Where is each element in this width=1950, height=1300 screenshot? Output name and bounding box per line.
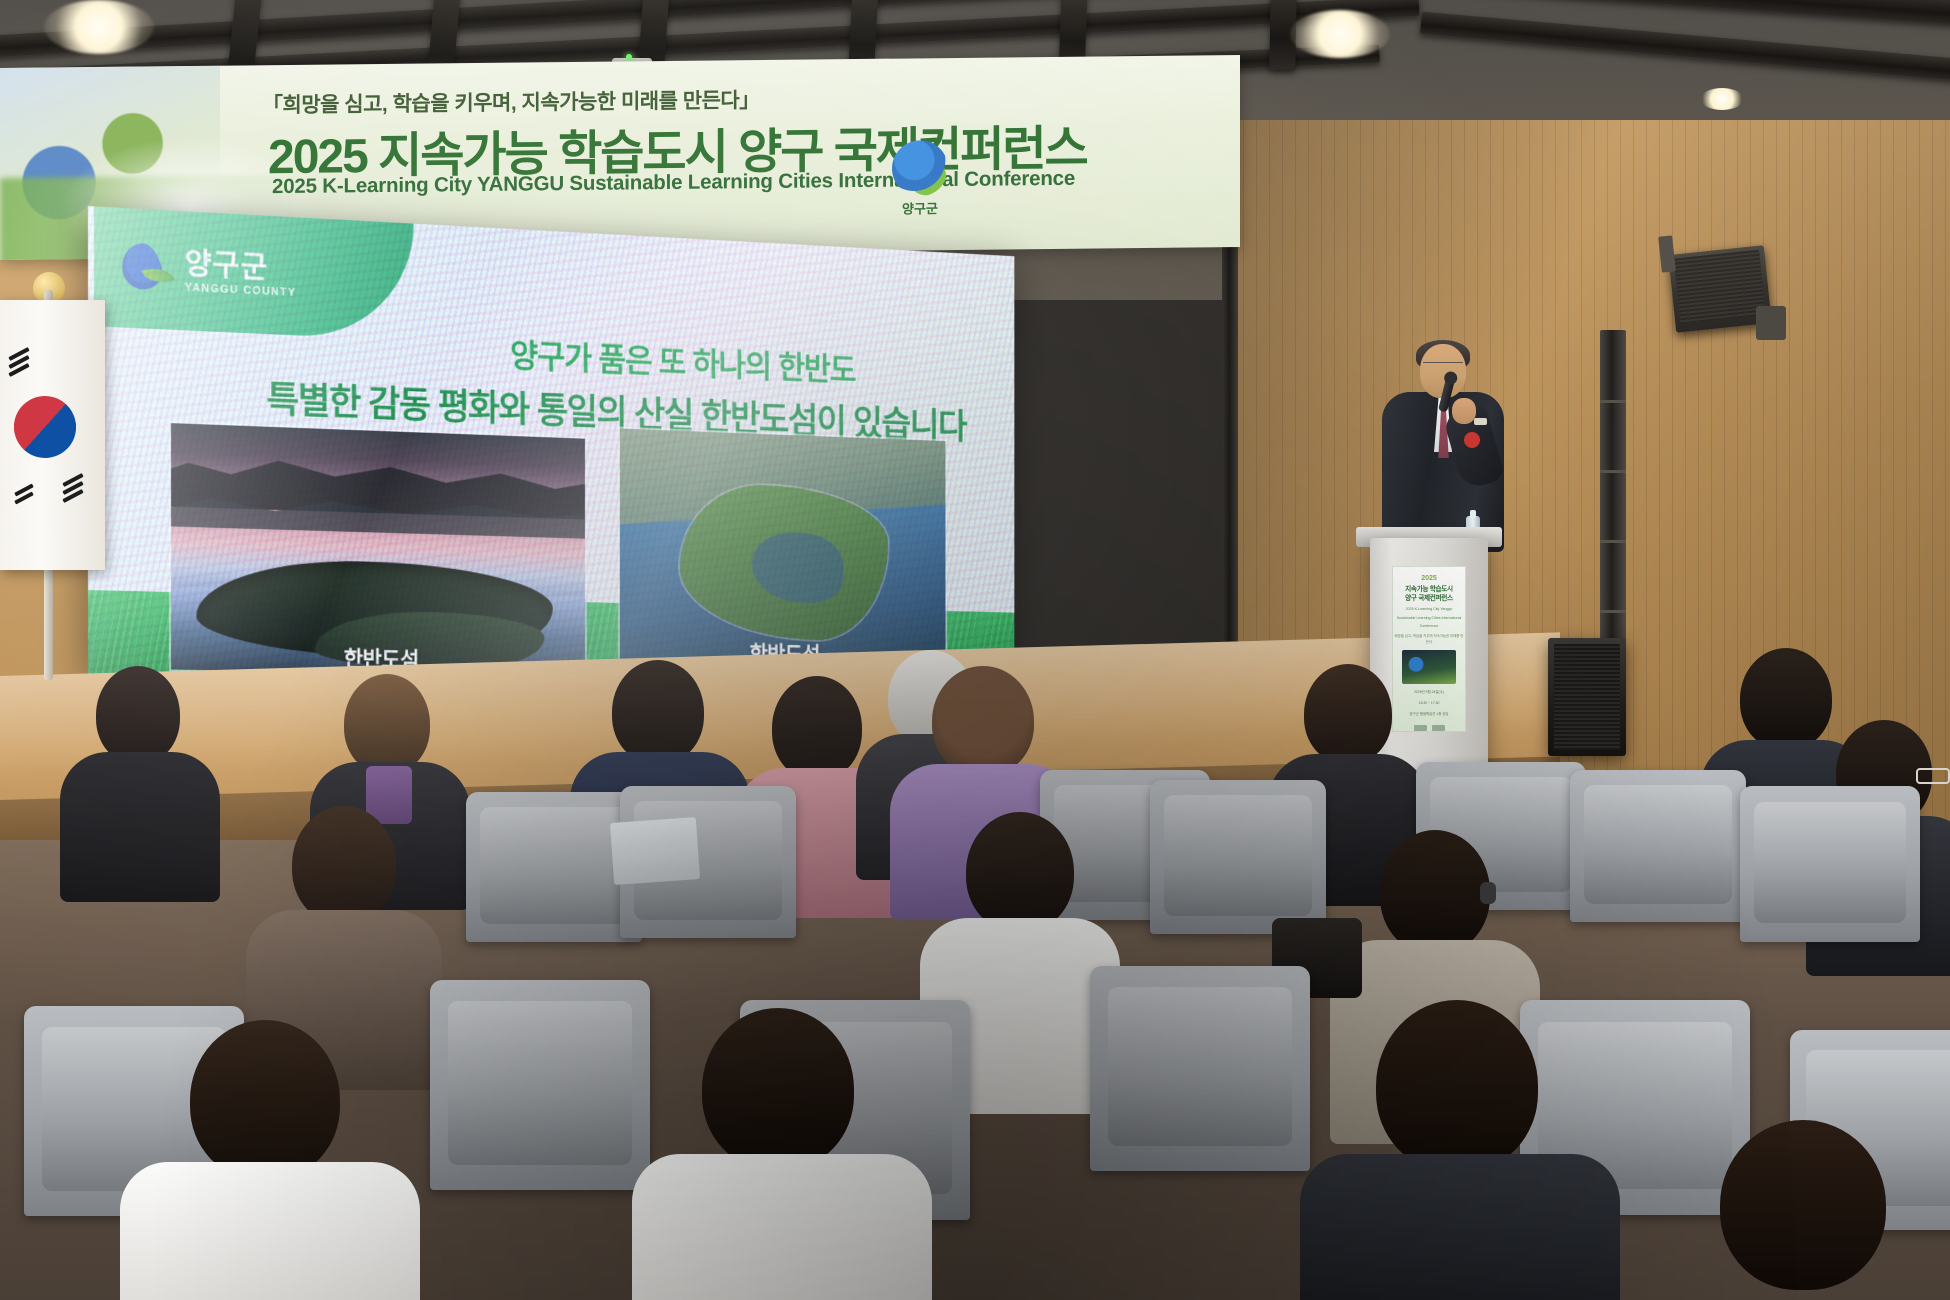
audience-head [344,674,430,774]
conference-chair[interactable] [1570,770,1746,922]
slide-brand-badge: 양구군 YANGGU COUNTY [94,206,414,340]
audience-member [1300,1000,1620,1300]
poster-subtitle-line1: 2025 K-Learning City Yanggu [1393,607,1465,612]
projector-indicator-icon [626,54,632,60]
speaker-wristwatch [1474,418,1487,425]
audience-member [632,1008,932,1300]
projection-screen: 양구군 YANGGU COUNTY 양구가 품은 또 하나의 한반도 특별한 감… [88,206,1014,692]
speaker-hand [1452,398,1476,424]
audience-head [190,1020,340,1180]
slide-brand-english: YANGGU COUNTY [185,281,297,298]
speaker-person [1378,344,1506,554]
banner-logo-label: 양구군 [872,198,968,218]
audience-shoulders [120,1162,420,1300]
conference-chair[interactable] [1740,786,1920,942]
audience-head [772,676,862,780]
audience-earphone-icon [1480,882,1496,904]
audience-member [1640,1120,1950,1300]
audience-head [702,1008,854,1170]
audience-head [612,660,704,764]
audience-glasses [1916,768,1950,784]
audience-head [96,666,180,764]
banner-yanggu-logo: 양구군 [872,140,968,237]
poster-subtitle-line3: Conference [1393,624,1465,629]
truss-rung [1600,540,1626,543]
conference-chair[interactable] [430,980,650,1190]
open-laptop[interactable] [610,817,700,885]
truss-rung [1600,470,1626,473]
audience-shoulders [60,752,220,902]
poster-subtitle-line2: Sustainable Learning Cities Internationa… [1393,616,1465,621]
yanggu-county-emblem-icon [116,238,173,299]
audience-head [1380,830,1490,954]
poster-title-line2: 양구 국제컨퍼런스 [1393,594,1465,604]
speaker-lapel-badge [1464,432,1480,448]
yanggu-county-emblem-icon [892,140,948,197]
ceiling-downlight [1700,88,1744,110]
speaker-mount-bracket [1756,306,1786,340]
audience-head [1720,1120,1886,1290]
south-korea-taegukgi-flag [0,300,105,570]
audience-member [120,1020,420,1300]
ceiling-light [1290,10,1390,58]
taeguk-symbol-icon [3,385,87,469]
slide-brand-korean: 양구군 [185,248,297,283]
audience-shoulders [632,1154,932,1300]
conference-hall-photo: 「희망을 심고, 학습을 키우며, 지속가능한 미래를 만든다」 2025 지속… [0,0,1950,1300]
poster-year: 2025 [1393,574,1465,585]
presentation-slide: 양구군 YANGGU COUNTY 양구가 품은 또 하나의 한반도 특별한 감… [88,206,1014,692]
poster-tagline: 희망을 심고, 학습을 키우며 지속가능한 미래를 만든다 [1393,634,1465,644]
audience-head [1376,1000,1538,1172]
audience-head [932,666,1034,776]
truss-rung [1600,400,1626,403]
audience-head [1304,664,1392,764]
floor-stage-monitor-speaker [1548,638,1626,756]
truss-rung [1600,610,1626,613]
conference-chair[interactable] [1150,780,1326,934]
speaker-glasses [1423,362,1463,372]
audience-head [292,806,396,924]
audience-member [60,666,220,896]
audience-head [966,812,1074,932]
speaker-grille [1674,250,1766,325]
ceiling-light [44,0,154,54]
poster-title-line1: 지속가능 학습도시 [1393,585,1465,595]
audience-shoulders [1300,1154,1620,1300]
conference-chair[interactable] [1090,966,1310,1171]
